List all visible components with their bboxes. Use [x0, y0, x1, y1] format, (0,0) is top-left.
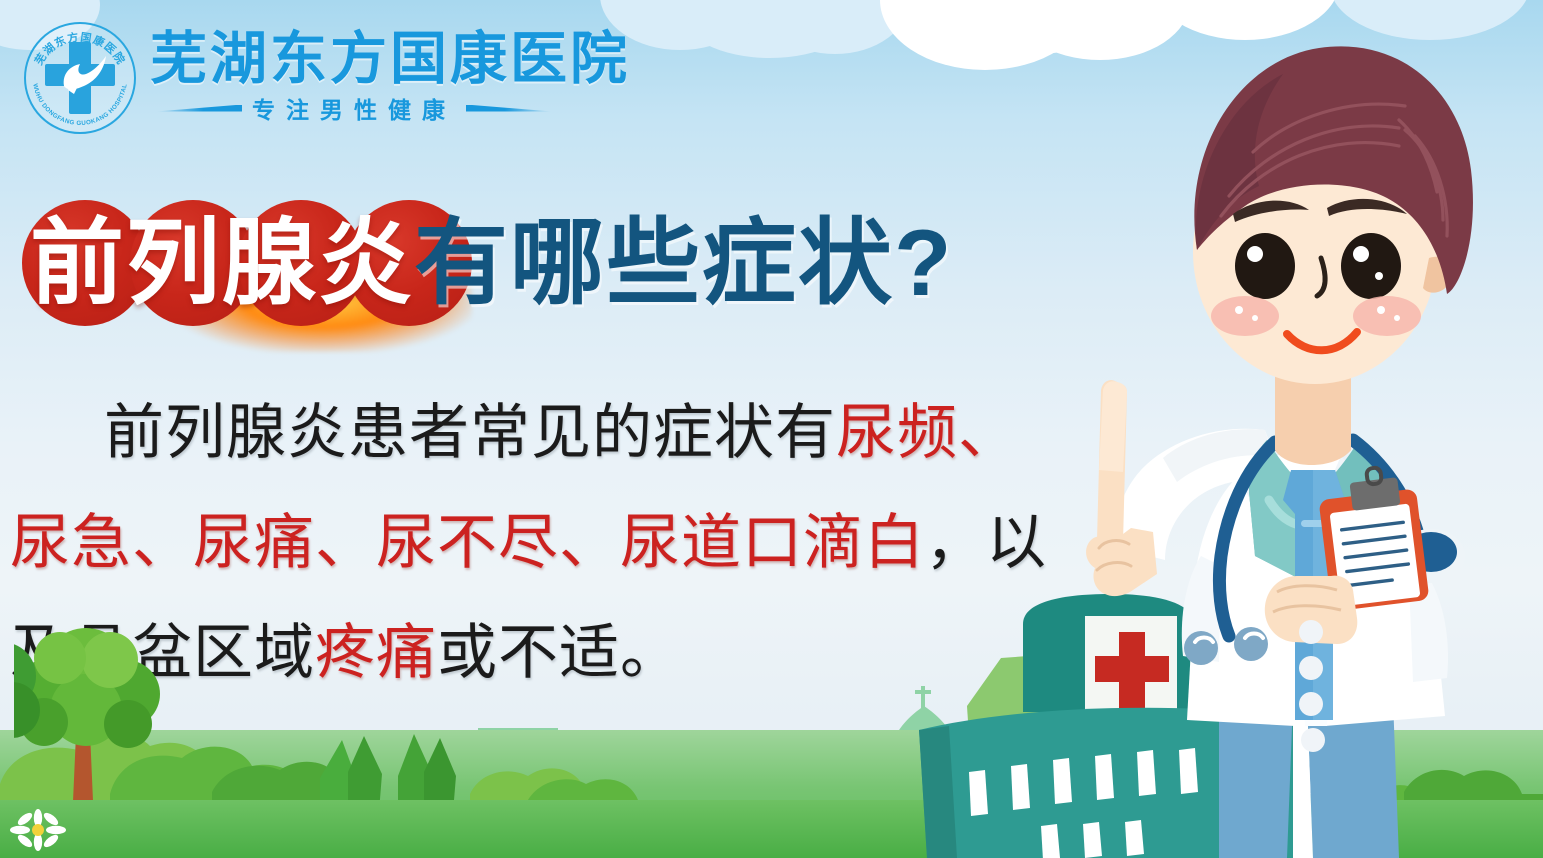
logo-cross-icon	[42, 40, 118, 116]
tagline-row: 专注男性健康	[150, 91, 630, 125]
tagline-rule-right-icon	[466, 105, 552, 112]
body-line-2-red: 尿急、尿痛、尿不尽、尿道口滴白	[10, 509, 925, 576]
body-line-1-black: 前列腺炎患者常见的症状有	[104, 399, 836, 466]
cartoon-doctor-figure	[1069, 0, 1543, 858]
headline-block: 前列腺炎有哪些症状?	[22, 188, 953, 348]
doctor-head	[1193, 46, 1473, 384]
logo-emblem-icon: 芜湖东方国康医院 WUHU DONGFANG GUOKANG HOSPITAL	[24, 22, 136, 134]
hospital-tagline: 专注男性健康	[252, 91, 456, 125]
tree-icon	[14, 614, 214, 824]
logo-flame-hand-icon	[56, 52, 108, 102]
headline-highlight: 前列腺炎	[30, 210, 414, 315]
body-line-1: 前列腺炎患者常见的症状有尿频、	[0, 378, 1110, 488]
hospital-name: 芜湖东方国康医院	[150, 31, 630, 88]
tagline-rule-left-icon	[156, 105, 242, 112]
headline-rest: 有哪些症状?	[414, 210, 953, 315]
hospital-logo[interactable]: 芜湖东方国康医院 WUHU DONGFANG GUOKANG HOSPITAL …	[24, 22, 630, 134]
body-line-2: 尿急、尿痛、尿不尽、尿道口滴白，以	[0, 488, 1110, 598]
body-line-1-red: 尿频、	[836, 399, 1019, 466]
poster-canvas: 芜湖东方国康医院 WUHU DONGFANG GUOKANG HOSPITAL …	[0, 0, 1543, 858]
body-line-2-black: ，以	[925, 509, 1047, 576]
headline-text: 前列腺炎有哪些症状?	[22, 188, 953, 338]
daisy-flower-icon	[6, 808, 70, 852]
